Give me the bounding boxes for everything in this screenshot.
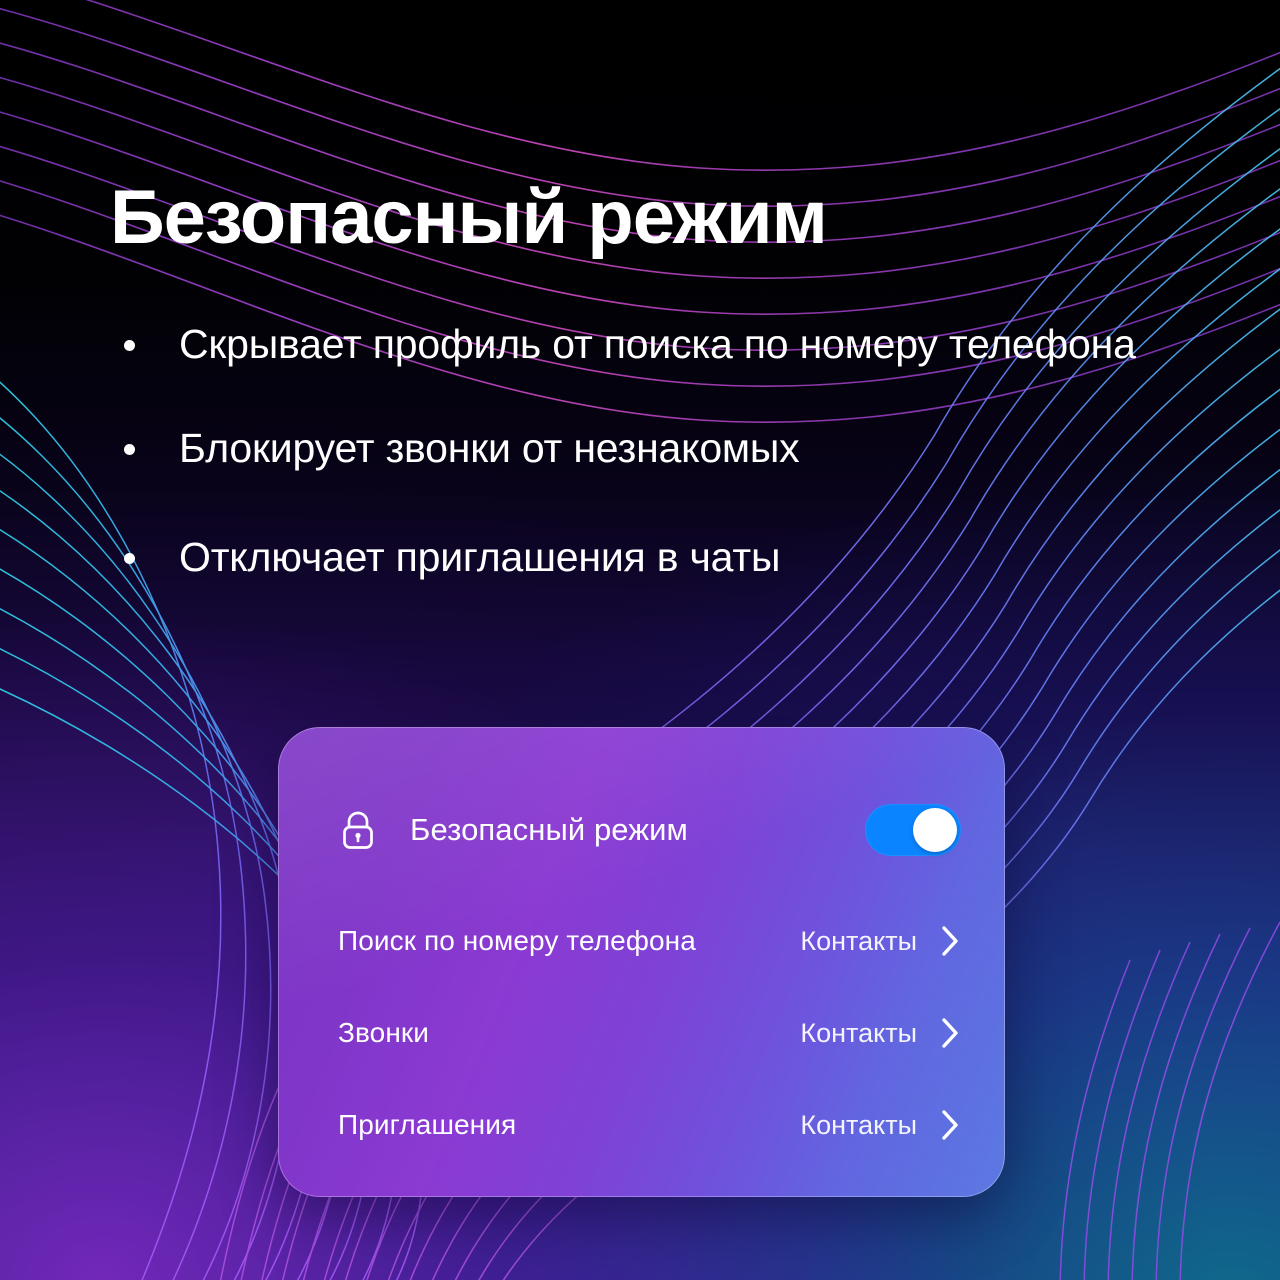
toggle-knob xyxy=(913,808,957,852)
lock-icon xyxy=(338,808,378,852)
slide-root: Безопасный режим Скрывает профиль от пои… xyxy=(0,0,1280,1280)
bullet-text: Отключает приглашения в чаты xyxy=(179,531,780,583)
row-label: Приглашения xyxy=(338,1109,800,1141)
settings-row-phone-search[interactable]: Поиск по номеру телефона Контакты xyxy=(278,895,1005,987)
chevron-right-icon xyxy=(939,1016,961,1050)
safe-mode-toggle-row[interactable]: Безопасный режим xyxy=(278,795,1005,865)
row-label: Звонки xyxy=(338,1017,800,1049)
bullet-text: Блокирует звонки от незнакомых xyxy=(179,422,799,474)
row-value: Контакты xyxy=(800,1018,917,1049)
settings-rows: Поиск по номеру телефона Контакты Звонки… xyxy=(278,895,1005,1171)
bullet-text: Скрывает профиль от поиска по номеру тел… xyxy=(179,318,1136,370)
list-item: Скрывает профиль от поиска по номеру тел… xyxy=(124,318,1234,370)
safe-mode-settings-card: Безопасный режим Поиск по номеру телефон… xyxy=(278,727,1005,1197)
bullet-dot-icon xyxy=(124,553,135,564)
row-label: Поиск по номеру телефона xyxy=(338,925,800,957)
bullet-dot-icon xyxy=(124,444,135,455)
settings-row-invites[interactable]: Приглашения Контакты xyxy=(278,1079,1005,1171)
settings-row-calls[interactable]: Звонки Контакты xyxy=(278,987,1005,1079)
page-title: Безопасный режим xyxy=(110,178,827,258)
list-item: Отключает приглашения в чаты xyxy=(124,531,1234,583)
bullet-dot-icon xyxy=(124,340,135,351)
row-value: Контакты xyxy=(800,1110,917,1141)
chevron-right-icon xyxy=(939,1108,961,1142)
safe-mode-label: Безопасный режим xyxy=(410,812,865,848)
chevron-right-icon xyxy=(939,924,961,958)
safe-mode-toggle[interactable] xyxy=(865,804,961,856)
feature-bullet-list: Скрывает профиль от поиска по номеру тел… xyxy=(124,318,1234,621)
row-value: Контакты xyxy=(800,926,917,957)
list-item: Блокирует звонки от незнакомых xyxy=(124,422,1234,474)
